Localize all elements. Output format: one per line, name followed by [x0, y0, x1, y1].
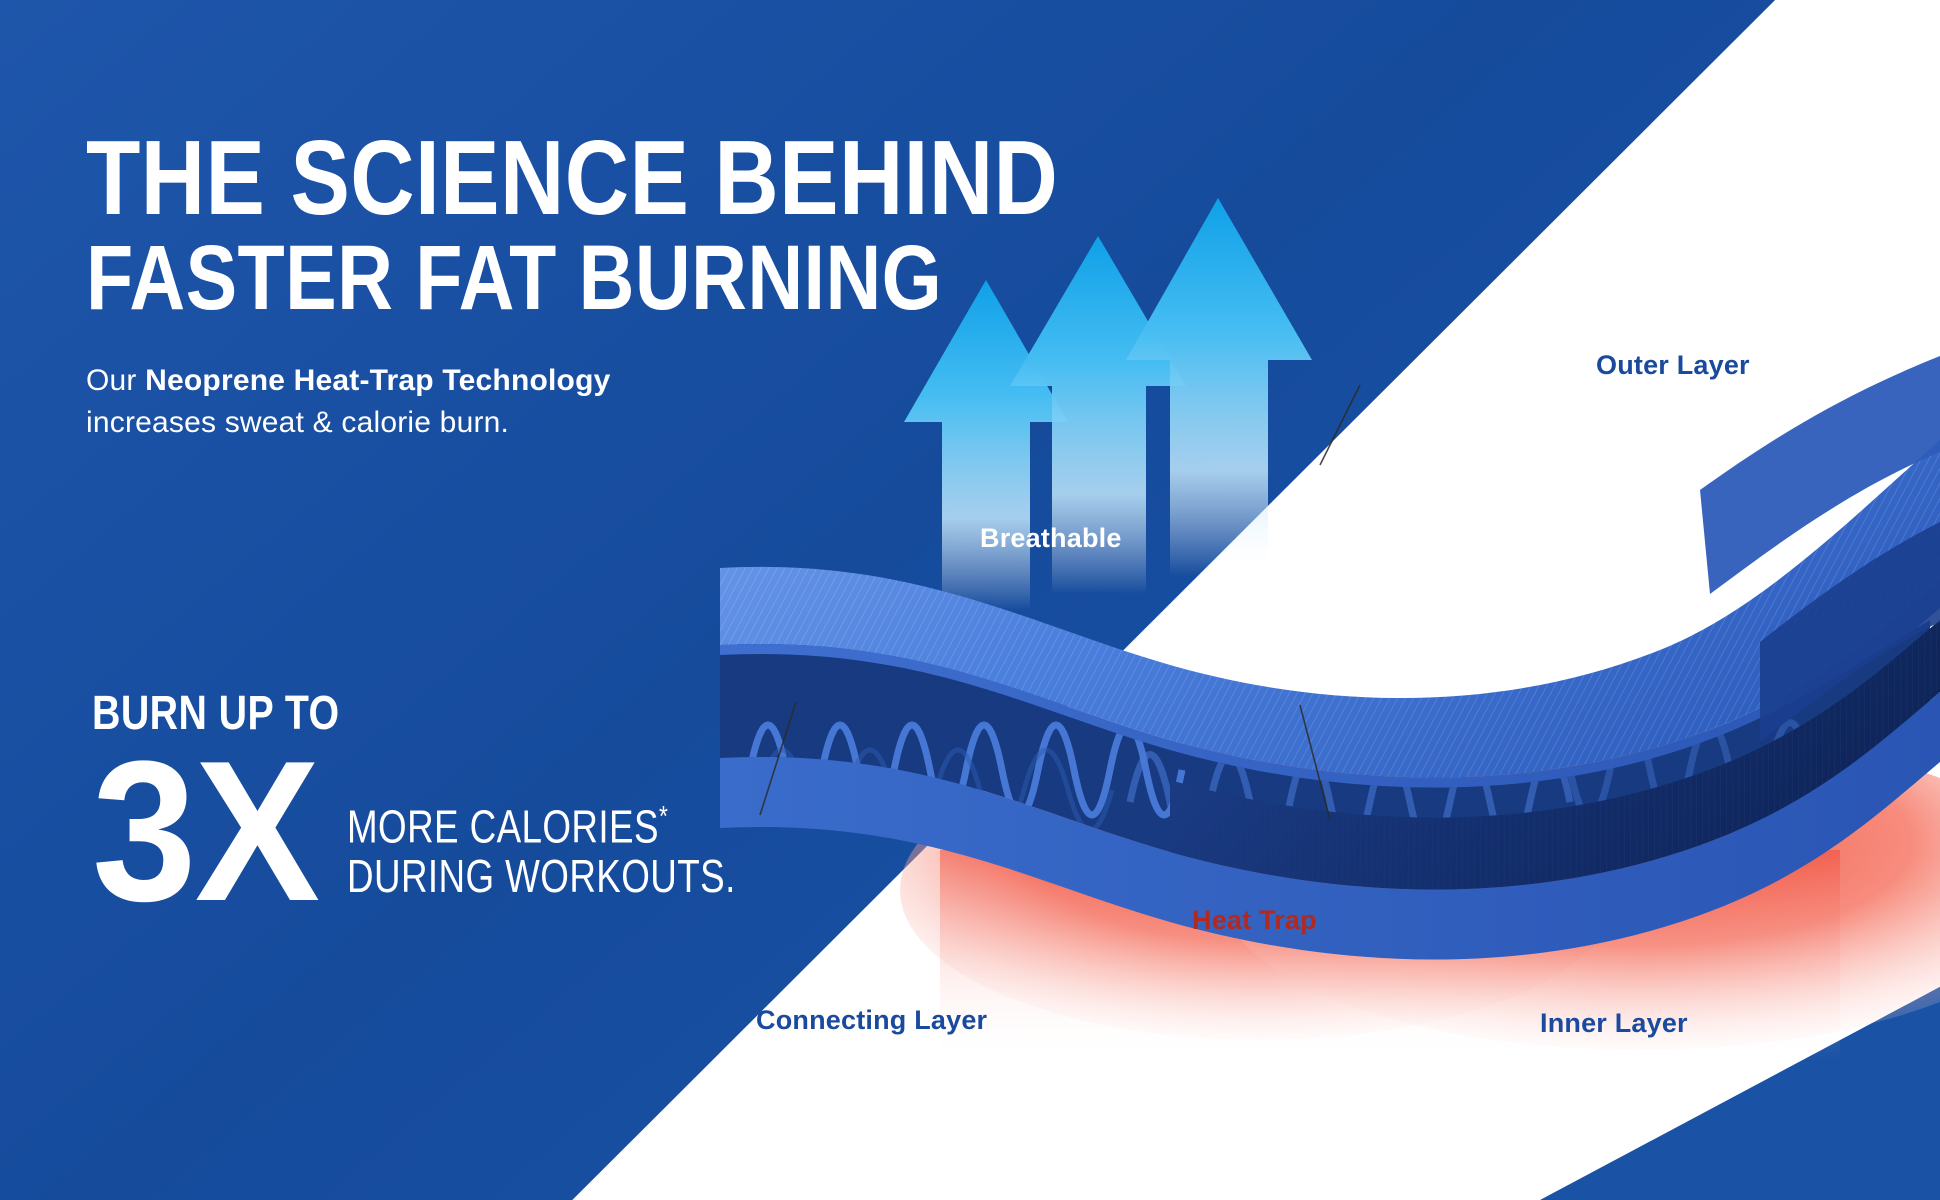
infographic-canvas: THE SCIENCE BEHIND FASTER FAT BURNING Ou… — [0, 0, 1940, 1200]
stat-detail-text: MORE CALORIES — [347, 801, 659, 853]
subcopy: Our Neoprene Heat-Trap Technology increa… — [86, 360, 726, 443]
stat-multiplier: 3X — [92, 746, 318, 918]
fabric-diagram — [700, 190, 1940, 1070]
subcopy-emphasis: Neoprene Heat-Trap Technology — [145, 364, 610, 397]
label-inner-layer: Inner Layer — [1540, 1008, 1688, 1039]
subcopy-lead: Our — [86, 364, 145, 397]
label-heat-trap: Heat Trap — [1192, 905, 1317, 936]
label-connecting-layer: Connecting Layer — [756, 1005, 987, 1036]
stat-detail-line-2: DURING WORKOUTS. — [347, 852, 736, 902]
stat-asterisk: * — [659, 801, 668, 833]
arrow-3 — [1126, 198, 1312, 576]
leader-outer-layer — [1320, 385, 1360, 465]
label-breathable: Breathable — [980, 523, 1122, 554]
subcopy-rest: increases sweat & calorie burn. — [86, 406, 509, 439]
stat-detail-line-1: MORE CALORIES* — [347, 802, 736, 852]
label-outer-layer: Outer Layer — [1596, 350, 1750, 381]
